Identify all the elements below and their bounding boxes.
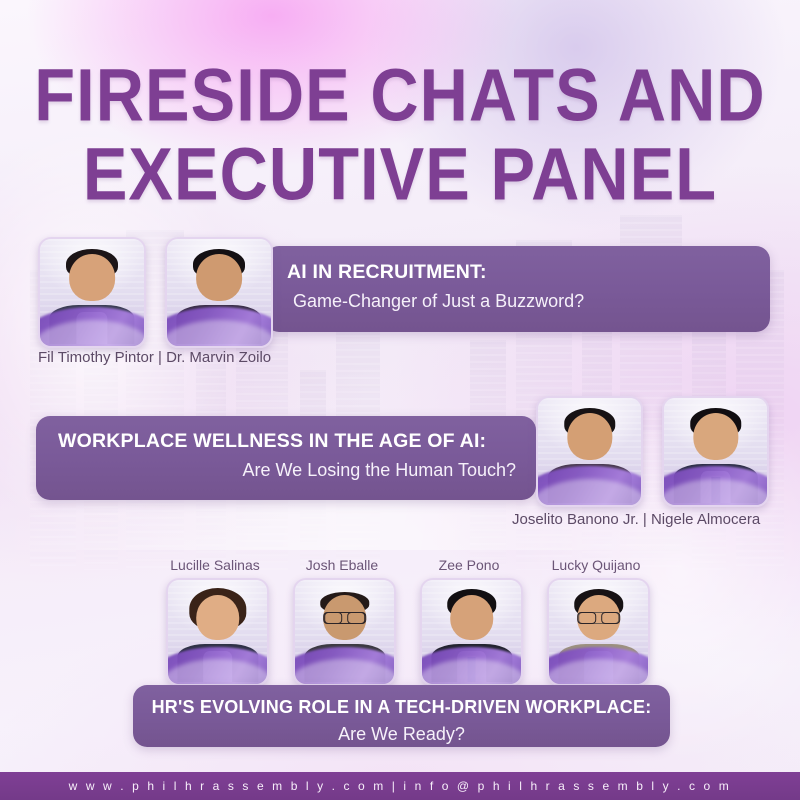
speaker-photo-lucky-quijano[interactable] xyxy=(547,578,650,686)
eyeglasses-icon xyxy=(578,612,620,623)
session-banner-ai-in-recruitment[interactable]: AI IN RECRUITMENT: Game-Changer of Just … xyxy=(265,246,770,332)
speaker-name-josh-eballe: Josh Eballe xyxy=(277,557,407,574)
speaker-names-row-2: Joselito Banono Jr. | Nigele Almocera xyxy=(512,511,760,529)
speaker-names-row-1: Fil Timothy Pintor | Dr. Marvin Zoilo xyxy=(38,349,271,367)
page-title: FIRESIDE CHATS AND EXECUTIVE PANEL xyxy=(0,58,800,201)
speaker-photo-lucille-salinas[interactable] xyxy=(166,578,269,686)
session-banner-hr-evolving-role[interactable]: HR'S EVOLVING ROLE IN A TECH-DRIVEN WORK… xyxy=(133,685,670,747)
session-title: WORKPLACE WELLNESS IN THE AGE OF AI: xyxy=(58,429,516,453)
speaker-name-zee-pono: Zee Pono xyxy=(404,557,534,574)
speaker-photo-joselito-banono-jr[interactable] xyxy=(536,396,643,507)
speaker-name-lucille-salinas: Lucille Salinas xyxy=(150,557,280,574)
speaker-photo-zee-pono[interactable] xyxy=(420,578,523,686)
title-line-1: FIRESIDE CHATS AND xyxy=(0,58,800,134)
session-subtitle: Game-Changer of Just a Buzzword? xyxy=(293,289,770,313)
speaker-name-lucky-quijano: Lucky Quijano xyxy=(531,557,661,574)
speaker-photo-nigele-almocera[interactable] xyxy=(662,396,769,507)
session-title: AI IN RECRUITMENT: xyxy=(287,260,770,284)
session-subtitle: Are We Ready? xyxy=(133,722,670,746)
eyeglasses-icon xyxy=(324,612,366,623)
session-title: HR'S EVOLVING ROLE IN A TECH-DRIVEN WORK… xyxy=(133,695,670,719)
session-banner-workplace-wellness[interactable]: WORKPLACE WELLNESS IN THE AGE OF AI: Are… xyxy=(36,416,536,500)
session-subtitle: Are We Losing the Human Touch? xyxy=(58,458,516,482)
speaker-photo-dr-marvin-zoilo[interactable] xyxy=(165,237,273,348)
title-line-2: EXECUTIVE PANEL xyxy=(0,137,800,213)
footer-bar: w w w . p h i l h r a s s e m b l y . c … xyxy=(0,772,800,800)
speaker-photo-fil-timothy-pintor[interactable] xyxy=(38,237,146,348)
footer-contact-text[interactable]: w w w . p h i l h r a s s e m b l y . c … xyxy=(69,779,732,793)
speaker-photo-josh-eballe[interactable] xyxy=(293,578,396,686)
event-poster: FIRESIDE CHATS AND EXECUTIVE PANEL AI IN… xyxy=(0,0,800,800)
